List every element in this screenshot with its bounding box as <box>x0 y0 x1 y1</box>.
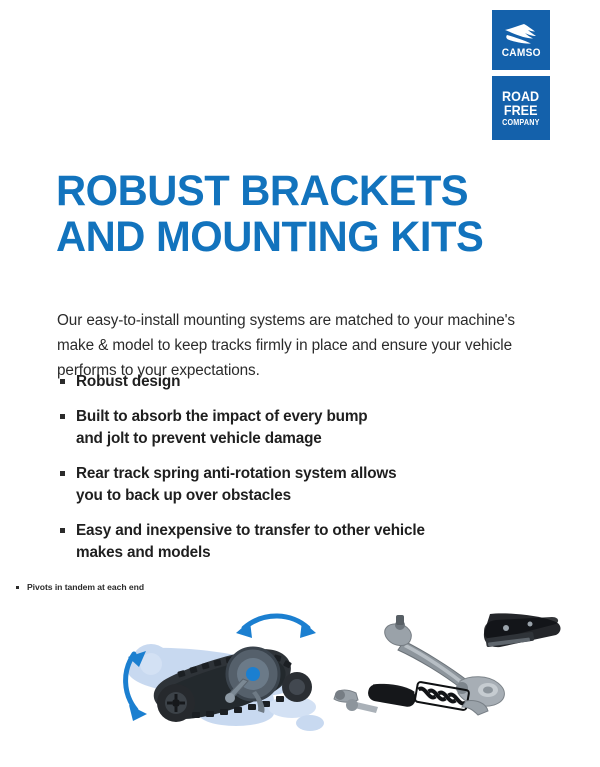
roadfree-line-company: COMPANY <box>502 119 540 127</box>
bullet-square-icon <box>60 379 65 384</box>
brand-logo-stack: CAMSO ROAD FREE COMPANY <box>492 10 550 140</box>
list-item-line-1: Robust design <box>76 371 527 393</box>
roadfree-line-free: FREE <box>504 103 538 117</box>
footnote: Pivots in tandem at each end <box>16 582 144 592</box>
illustration-row <box>0 595 600 745</box>
page-title: ROBUST BRACKETS AND MOUNTING KITS <box>56 168 483 260</box>
damper-eye-left <box>335 690 345 700</box>
illustration-svg <box>0 595 600 745</box>
road-free-company-logo-tile: ROAD FREE COMPANY <box>492 76 550 140</box>
camso-chevron-mark-icon <box>504 23 538 45</box>
camso-logo-tile: CAMSO <box>492 10 550 70</box>
sprocket-hub-icon <box>246 667 260 681</box>
camso-wordmark: CAMSO <box>501 48 540 59</box>
list-item-line-1: Easy and inexpensive to transfer to othe… <box>76 520 527 542</box>
bullet-square-icon <box>60 528 65 533</box>
black-mounting-bracket <box>484 613 561 647</box>
list-item: Rear track spring anti-rotation system a… <box>57 463 527 507</box>
list-item-line-1: Built to absorb the impact of every bump <box>76 406 527 428</box>
list-item-line-2: you to back up over obstacles <box>76 485 527 507</box>
bullet-square-icon <box>60 414 65 419</box>
bullet-square-icon <box>60 471 65 476</box>
mounting-hardware-photo <box>334 613 561 715</box>
list-item-line-2: and jolt to prevent vehicle damage <box>76 428 527 450</box>
list-item: Robust design <box>57 371 527 393</box>
rubber-track-system-pivot-diagram <box>126 616 324 745</box>
list-item: Built to absorb the impact of every bump… <box>57 406 527 450</box>
list-item-line-2: makes and models <box>76 542 527 564</box>
list-item: Easy and inexpensive to transfer to othe… <box>57 520 527 564</box>
list-item-line-1: Rear track spring anti-rotation system a… <box>76 463 527 485</box>
roadfree-line-road: ROAD <box>502 89 539 103</box>
page-title-line-1: ROBUST BRACKETS <box>56 168 483 214</box>
footnote-bullet-square-icon <box>16 586 19 589</box>
page-title-line-2: AND MOUNTING KITS <box>56 214 483 260</box>
feature-bullet-list: Robust design Built to absorb the impact… <box>57 371 527 577</box>
footnote-text: Pivots in tandem at each end <box>27 582 144 592</box>
